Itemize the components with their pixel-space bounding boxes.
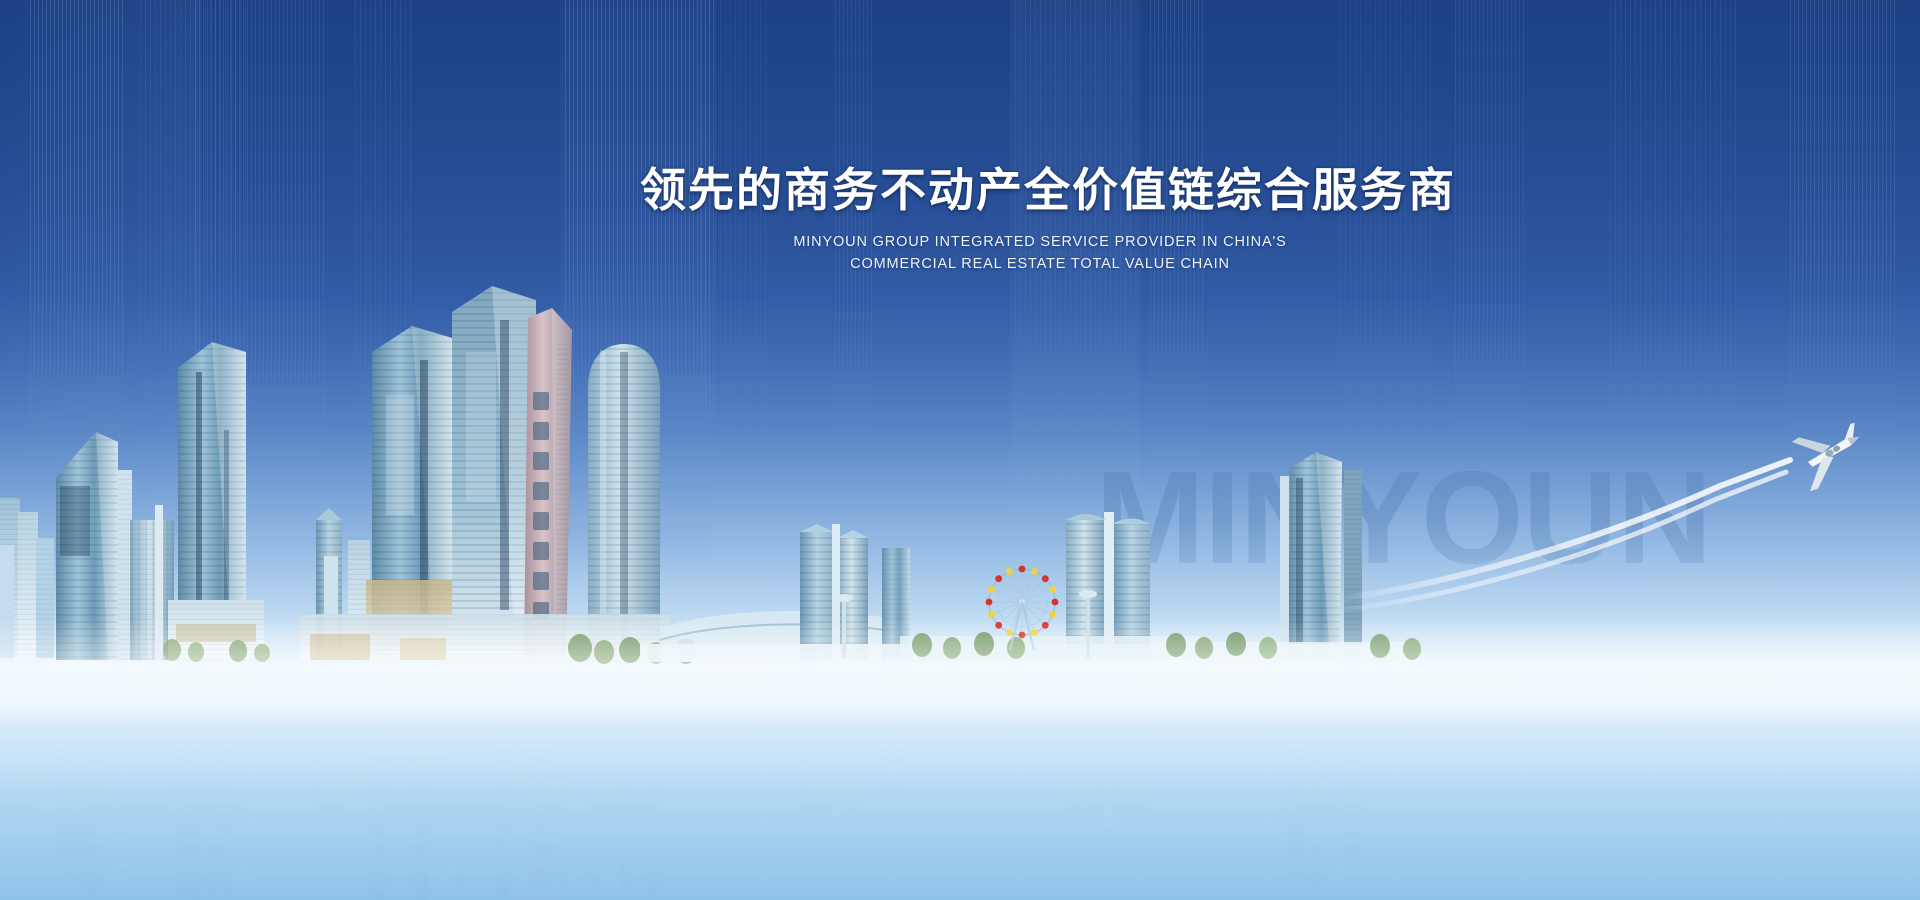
skyline-far-left <box>0 498 54 658</box>
hero-banner: MINYOUN <box>0 0 1920 900</box>
tower-right-tall <box>1280 452 1362 660</box>
tower-center-tallest <box>452 286 536 660</box>
headline-block: 领先的商务不动产全价值链综合服务商 MINYOUN GROUP INTEGRAT… <box>640 165 1440 275</box>
subtitle: MINYOUN GROUP INTEGRATED SERVICE PROVIDE… <box>640 231 1440 276</box>
ferris-wheel-icon <box>978 562 1088 667</box>
tower-center-sail <box>524 308 572 660</box>
base-strip-left <box>300 614 670 660</box>
page-title: 领先的商务不动产全价值链综合服务商 <box>640 165 1440 217</box>
twin-towers-a <box>800 524 868 660</box>
tower-left-main <box>168 342 264 660</box>
city-skyline-icon <box>0 0 1920 900</box>
tower-left-slim <box>118 470 132 660</box>
tower-left-angled <box>56 432 118 660</box>
tower-center-banded <box>366 326 462 660</box>
tower-center-round <box>588 344 660 660</box>
subtitle-line-1: MINYOUN GROUP INTEGRATED SERVICE PROVIDE… <box>640 231 1440 253</box>
tower-left-grid <box>130 505 174 660</box>
subtitle-line-2: COMMERCIAL REAL ESTATE TOTAL VALUE CHAIN <box>640 253 1440 275</box>
